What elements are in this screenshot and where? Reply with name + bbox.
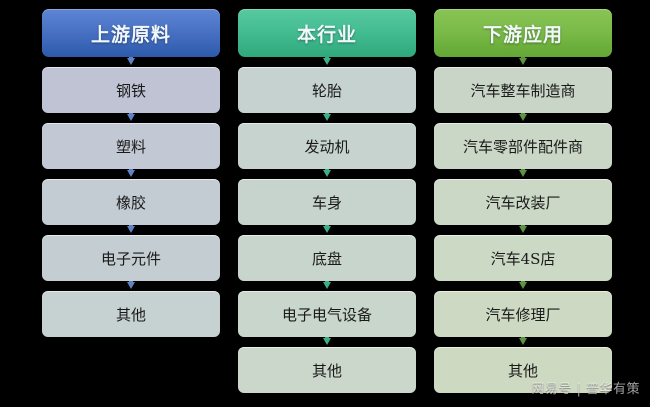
arrow-down-icon (323, 170, 331, 177)
arrow-connector (434, 225, 612, 235)
node-upstream-0[interactable]: 钢铁 (42, 67, 220, 113)
arrow-down-icon (127, 114, 135, 121)
arrow-down-icon (519, 170, 527, 177)
node-upstream-1[interactable]: 塑料 (42, 123, 220, 169)
node-industry-3[interactable]: 底盘 (238, 235, 416, 281)
node-industry-4[interactable]: 电子电气设备 (238, 291, 416, 337)
node-downstream-1[interactable]: 汽车零部件配件商 (434, 123, 612, 169)
industry-chain-diagram: 上游原料 钢铁 塑料 橡胶 电子元件 其他 本行业 轮胎 发动机 车身 底盘 电… (0, 0, 650, 407)
arrow-down-icon (323, 226, 331, 233)
arrow-connector (42, 169, 220, 179)
node-industry-1[interactable]: 发动机 (238, 123, 416, 169)
arrow-connector (434, 169, 612, 179)
arrow-connector (42, 57, 220, 67)
arrow-connector (434, 57, 612, 67)
arrow-down-icon (519, 226, 527, 233)
arrow-connector (42, 113, 220, 123)
column-industry: 本行业 轮胎 发动机 车身 底盘 电子电气设备 其他 (238, 0, 416, 393)
arrow-connector (434, 281, 612, 291)
arrow-connector (434, 337, 612, 347)
node-downstream-2[interactable]: 汽车改装厂 (434, 179, 612, 225)
node-industry-0[interactable]: 轮胎 (238, 67, 416, 113)
arrow-connector (42, 281, 220, 291)
arrow-down-icon (519, 338, 527, 345)
arrow-down-icon (323, 338, 331, 345)
column-header-upstream[interactable]: 上游原料 (42, 9, 220, 57)
arrow-connector (238, 113, 416, 123)
arrow-connector (434, 113, 612, 123)
column-upstream: 上游原料 钢铁 塑料 橡胶 电子元件 其他 (42, 0, 220, 337)
arrow-connector (238, 225, 416, 235)
arrow-down-icon (127, 170, 135, 177)
arrow-down-icon (519, 282, 527, 289)
node-industry-5[interactable]: 其他 (238, 347, 416, 393)
arrow-connector (42, 225, 220, 235)
arrow-down-icon (519, 58, 527, 65)
arrow-down-icon (127, 226, 135, 233)
column-downstream: 下游应用 汽车整车制造商 汽车零部件配件商 汽车改装厂 汽车4S店 汽车修理厂 … (434, 0, 612, 393)
node-downstream-5[interactable]: 其他 (434, 347, 612, 393)
arrow-down-icon (323, 58, 331, 65)
arrow-connector (238, 57, 416, 67)
arrow-connector (238, 169, 416, 179)
arrow-down-icon (127, 282, 135, 289)
node-downstream-4[interactable]: 汽车修理厂 (434, 291, 612, 337)
node-upstream-4[interactable]: 其他 (42, 291, 220, 337)
arrow-down-icon (127, 58, 135, 65)
column-header-industry[interactable]: 本行业 (238, 9, 416, 57)
arrow-down-icon (323, 282, 331, 289)
column-header-downstream[interactable]: 下游应用 (434, 9, 612, 57)
arrow-connector (238, 281, 416, 291)
node-downstream-0[interactable]: 汽车整车制造商 (434, 67, 612, 113)
node-upstream-3[interactable]: 电子元件 (42, 235, 220, 281)
node-industry-2[interactable]: 车身 (238, 179, 416, 225)
arrow-connector (238, 337, 416, 347)
node-downstream-3[interactable]: 汽车4S店 (434, 235, 612, 281)
arrow-down-icon (323, 114, 331, 121)
node-upstream-2[interactable]: 橡胶 (42, 179, 220, 225)
arrow-down-icon (519, 114, 527, 121)
